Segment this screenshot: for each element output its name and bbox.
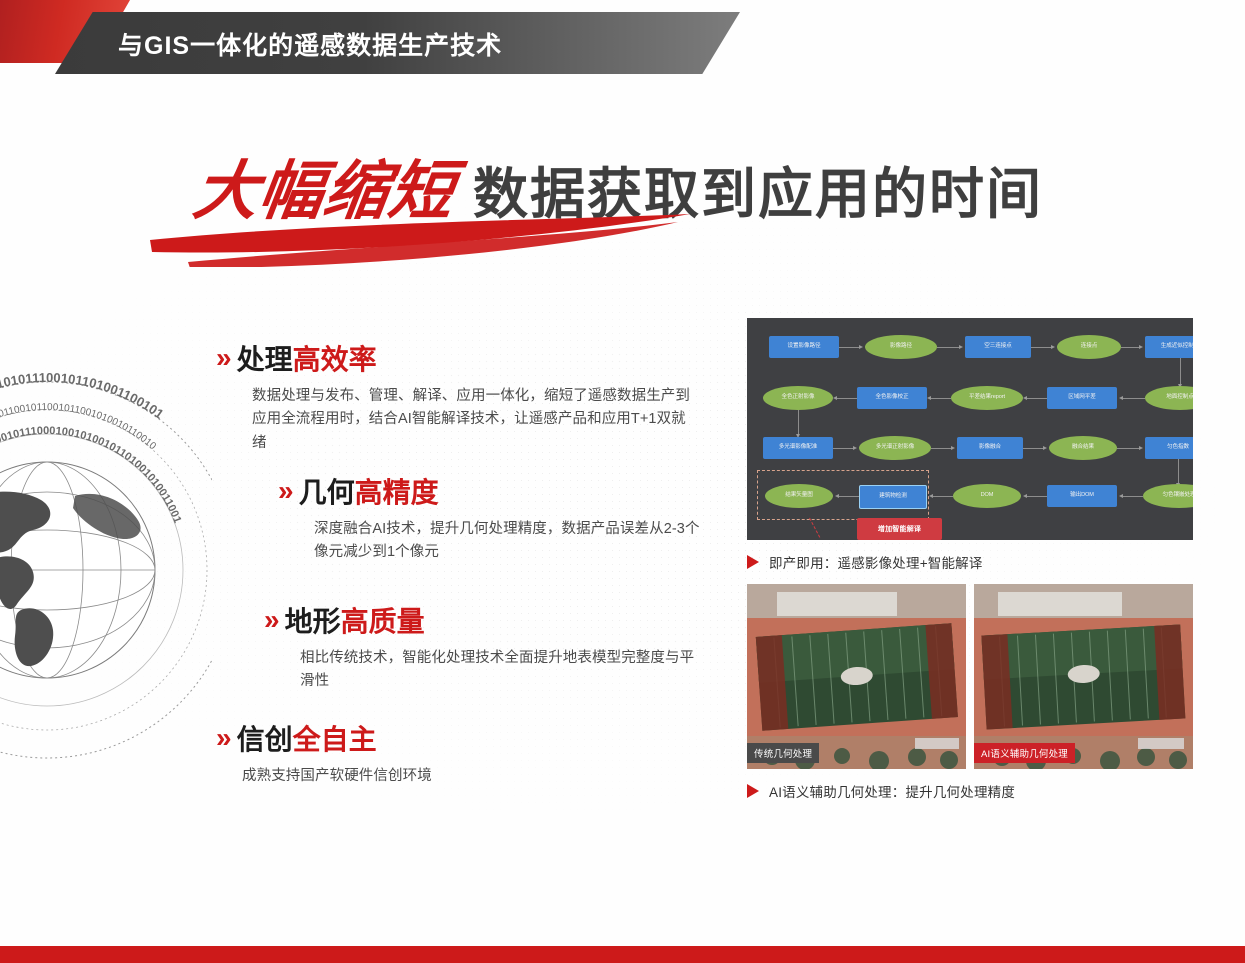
arrow-head-icon (1023, 494, 1027, 498)
arrow-head-icon (1119, 396, 1123, 400)
caption-text: AI语义辅助几何处理：提升几何处理精度 (769, 781, 1015, 801)
flow-node: 结果矢量图 (765, 484, 833, 508)
flow-node: 全色影像校正 (857, 387, 927, 409)
callout-badge: 增加智能解译 (857, 518, 942, 540)
flow-arrow (833, 448, 855, 449)
callout-connector (809, 518, 820, 538)
flow-node: 全色正射影像 (763, 386, 833, 410)
list-item: » 信创 全自主 成熟支持国产软硬件信创环境 (216, 718, 642, 788)
flow-arrow (929, 398, 951, 399)
feature-description: 数据处理与发布、管理、解译、应用一体化，缩短了遥感数据生产到应用全流程用时，结合… (252, 385, 700, 455)
aerial-stadium-image (747, 584, 966, 769)
caption-row: AI语义辅助几何处理：提升几何处理精度 (747, 781, 1193, 801)
flow-arrow (837, 496, 859, 497)
feature-title-plain: 地形 (285, 600, 341, 640)
flow-arrow (1178, 459, 1179, 485)
right-media-column: 设置影像路径 影像路径 空三连接点 连接点 生成近似控制点 地面控制点 (747, 318, 1193, 801)
feature-description: 成熟支持国产软硬件信创环境 (242, 765, 642, 788)
flow-arrow (1180, 358, 1181, 386)
flow-arrow (798, 410, 799, 436)
flow-arrow (1025, 496, 1047, 497)
photo-ai-assisted: AI语义辅助几何处理 (974, 584, 1193, 769)
flow-arrow (835, 398, 857, 399)
flow-node: 空三连接点 (965, 336, 1031, 358)
play-triangle-icon (747, 555, 759, 569)
feature-description: 深度融合AI技术，提升几何处理精度，数据产品误差从2-3个像元减少到1个像元 (314, 518, 714, 565)
list-item: » 地形 高质量 相比传统技术，智能化处理技术全面提升地表模型完整度与平滑性 (264, 600, 700, 694)
flow-node: 连接点 (1057, 335, 1121, 359)
feature-title-highlight: 全自主 (293, 718, 377, 758)
chevron-right-icon: » (216, 344, 228, 372)
flow-node: DOM (953, 484, 1021, 508)
arrow-head-icon (835, 494, 839, 498)
aerial-stadium-image (974, 584, 1193, 769)
flow-node: 影像路径 (865, 335, 937, 359)
list-item: » 几何 高精度 深度融合AI技术，提升几何处理精度，数据产品误差从2-3个像元… (278, 471, 714, 565)
flow-node: 多光谱正射影像 (859, 436, 931, 460)
flow-arrow (1025, 398, 1047, 399)
feature-description: 相比传统技术，智能化处理技术全面提升地表模型完整度与平滑性 (300, 647, 700, 694)
chevron-right-icon: » (278, 477, 290, 505)
flow-node: 建筑物检测 (859, 485, 927, 509)
arrow-head-icon (929, 494, 933, 498)
flow-node: 影像融合 (957, 437, 1023, 459)
arrow-head-icon (927, 396, 931, 400)
flow-node: 匀色指数 (1145, 437, 1193, 459)
flow-node: 匀色镶嵌处理 (1143, 484, 1193, 508)
arrow-head-icon (1051, 345, 1055, 349)
header-title: 与GIS一体化的遥感数据生产技术 (118, 26, 502, 62)
main-title: 大幅缩短 数据获取到应用的时间 (195, 140, 1095, 255)
header-banner: 与GIS一体化的遥感数据生产技术 (0, 0, 1245, 80)
flow-arrow (1121, 398, 1145, 399)
arrow-head-icon (1139, 345, 1143, 349)
list-item: » 处理 高效率 数据处理与发布、管理、解译、应用一体化，缩短了遥感数据生产到应… (216, 338, 700, 455)
workflow-diagram: 设置影像路径 影像路径 空三连接点 连接点 生成近似控制点 地面控制点 (747, 318, 1193, 540)
flow-node: 生成近似控制点 (1145, 336, 1193, 358)
feature-title-plain: 信创 (237, 718, 293, 758)
caption-row: 即产即用：遥感影像处理+智能解译 (747, 552, 1193, 572)
swoosh-underline-graphic (130, 212, 890, 267)
flow-node: 多光谱影像配准 (763, 437, 833, 459)
flow-arrow (839, 347, 861, 348)
flow-node: 融合结果 (1049, 436, 1117, 460)
caption-text: 即产即用：遥感影像处理+智能解译 (769, 552, 983, 572)
chevron-right-icon: » (216, 724, 228, 752)
photo-traditional: 传统几何处理 (747, 584, 966, 769)
arrow-head-icon (1119, 494, 1123, 498)
arrow-head-icon (859, 345, 863, 349)
flow-arrow (1031, 347, 1053, 348)
flow-arrow (1117, 448, 1141, 449)
flow-arrow (931, 496, 953, 497)
flow-node: 设置影像路径 (769, 336, 839, 358)
flow-node: 输出DOM (1047, 485, 1117, 507)
flow-arrow (931, 448, 953, 449)
flow-arrow (1121, 496, 1143, 497)
globe-binary-icon: 1001011110010010010100110010010101011100… (0, 305, 212, 835)
arrow-head-icon (853, 446, 857, 450)
arrow-head-icon (959, 345, 963, 349)
photo-label: 传统几何处理 (747, 743, 819, 763)
feature-title-plain: 处理 (237, 338, 293, 378)
flow-arrow (1121, 347, 1141, 348)
arrow-head-icon (1043, 446, 1047, 450)
bottom-accent-bar (0, 946, 1245, 963)
arrow-head-icon (951, 446, 955, 450)
slide-root: 与GIS一体化的遥感数据生产技术 大幅缩短 数据获取到应用的时间 1001011… (0, 0, 1245, 963)
arrow-head-icon (1139, 446, 1143, 450)
flow-node: 平差结果report (951, 386, 1023, 410)
flow-arrow (1023, 448, 1045, 449)
flow-node: 区域网平差 (1047, 387, 1117, 409)
arrow-head-icon (833, 396, 837, 400)
comparison-photos: 传统几何处理 (747, 584, 1193, 769)
feature-title-highlight: 高效率 (293, 338, 377, 378)
arrow-head-icon (1023, 396, 1027, 400)
feature-title-highlight: 高质量 (341, 600, 425, 640)
flow-node: 地面控制点 (1145, 386, 1193, 410)
feature-title-highlight: 高精度 (355, 471, 439, 511)
feature-title-plain: 几何 (299, 471, 355, 511)
photo-label: AI语义辅助几何处理 (974, 743, 1075, 763)
chevron-right-icon: » (264, 606, 276, 634)
play-triangle-icon (747, 784, 759, 798)
flow-arrow (937, 347, 961, 348)
